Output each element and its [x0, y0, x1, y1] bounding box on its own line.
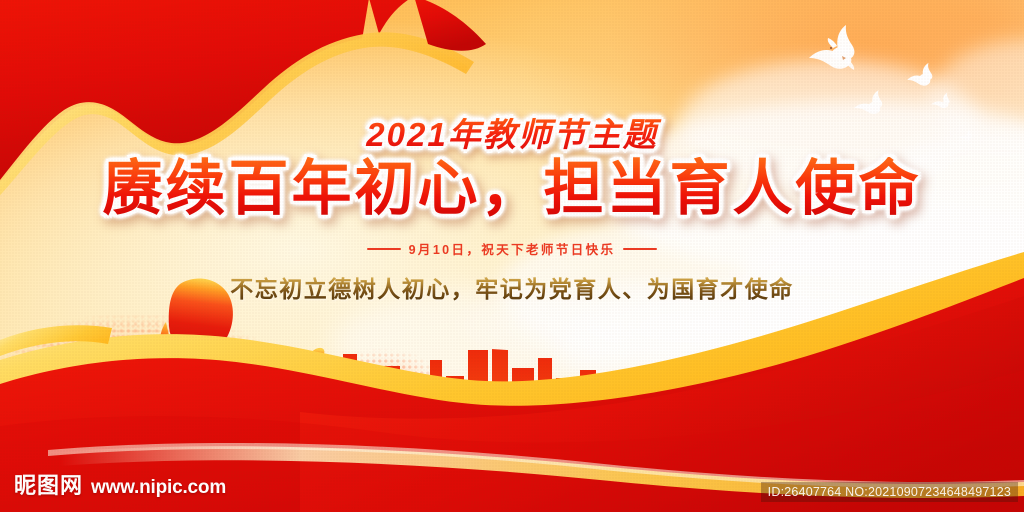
poster-text-block: 2021年教师节主题 赓续百年初心，担当育人使命 9月10日，祝天下老师节日快乐…: [0, 118, 1024, 304]
poster-eyebrow: 2021年教师节主题: [0, 118, 1024, 153]
watermark-site-name: 昵图网: [14, 468, 83, 500]
dash-left-icon: [367, 248, 401, 250]
dash-right-icon: [623, 248, 657, 250]
poster-canvas: 2021年教师节主题 赓续百年初心，担当育人使命 9月10日，祝天下老师节日快乐…: [0, 0, 1024, 512]
dove-icon: [852, 86, 892, 120]
poster-date-line: 9月10日，祝天下老师节日快乐: [0, 239, 1024, 258]
dove-icon: [930, 90, 956, 112]
dove-icon: [805, 22, 871, 80]
poster-tagline: 不忘初立德树人初心，牢记为党育人、为国育才使命: [0, 270, 1024, 304]
watermark: 昵图网 www.nipic.com: [14, 468, 226, 500]
watermark-url: www.nipic.com: [91, 477, 226, 499]
poster-headline: 赓续百年初心，担当育人使命: [0, 157, 1024, 222]
date-line-text: 9月10日，祝天下老师节日快乐: [409, 239, 616, 258]
dove-icon: [905, 60, 941, 92]
image-id-label: ID:26407764 NO:20210907234648497123: [761, 482, 1018, 502]
